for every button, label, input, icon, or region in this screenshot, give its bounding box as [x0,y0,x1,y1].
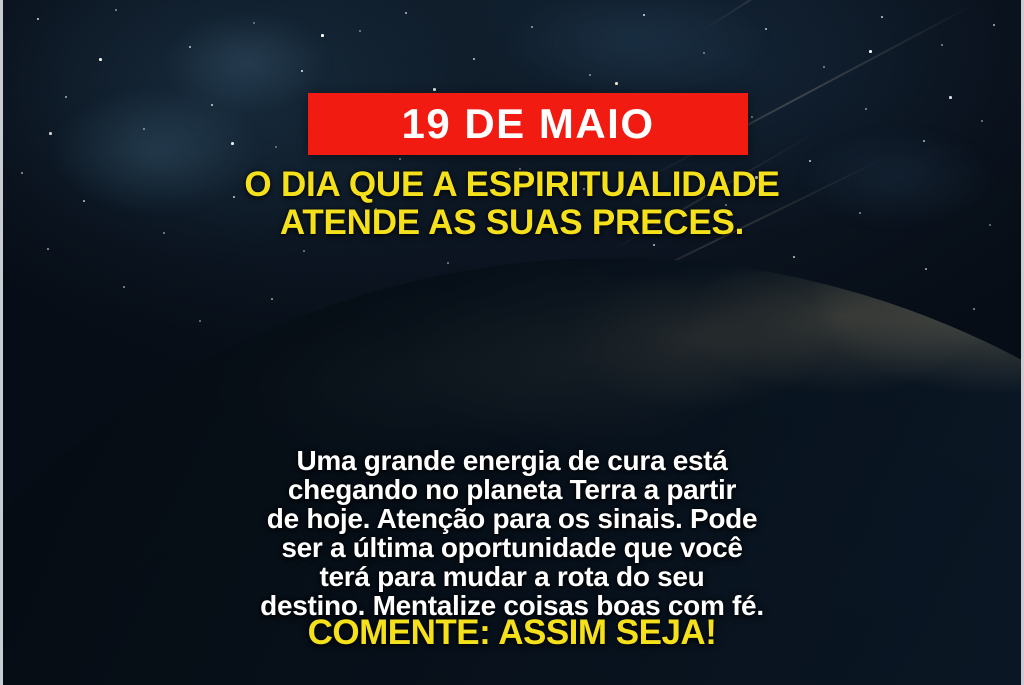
headline-line-2: ATENDE AS SUAS PRECES. [43,204,981,242]
body-line-5: terá para mudar a rota do seu [55,562,969,591]
body-line-4: ser a última oportunidade que você [55,533,969,562]
body-line-2: chegando no planeta Terra a partir [55,475,969,504]
call-to-action-label: COMENTE: ASSIM SEJA! [308,613,717,652]
body-line-3: de hoje. Atenção para os sinais. Pode [55,504,969,533]
headline-line-1: O DIA QUE A ESPIRITUALIDADE [244,165,779,204]
body-copy: Uma grande energia de cura está chegando… [3,446,1021,620]
poster-canvas: 19 DE MAIO O DIA QUE A ESPIRITUALIDADE A… [0,0,1024,685]
date-badge: 19 DE MAIO [308,93,748,155]
date-badge-label: 19 DE MAIO [401,103,654,145]
stars-layer-bright [3,0,6,3]
call-to-action: COMENTE: ASSIM SEJA! [3,613,1021,653]
headline: O DIA QUE A ESPIRITUALIDADE ATENDE AS SU… [3,166,1021,242]
body-line-1: Uma grande energia de cura está [55,446,969,475]
